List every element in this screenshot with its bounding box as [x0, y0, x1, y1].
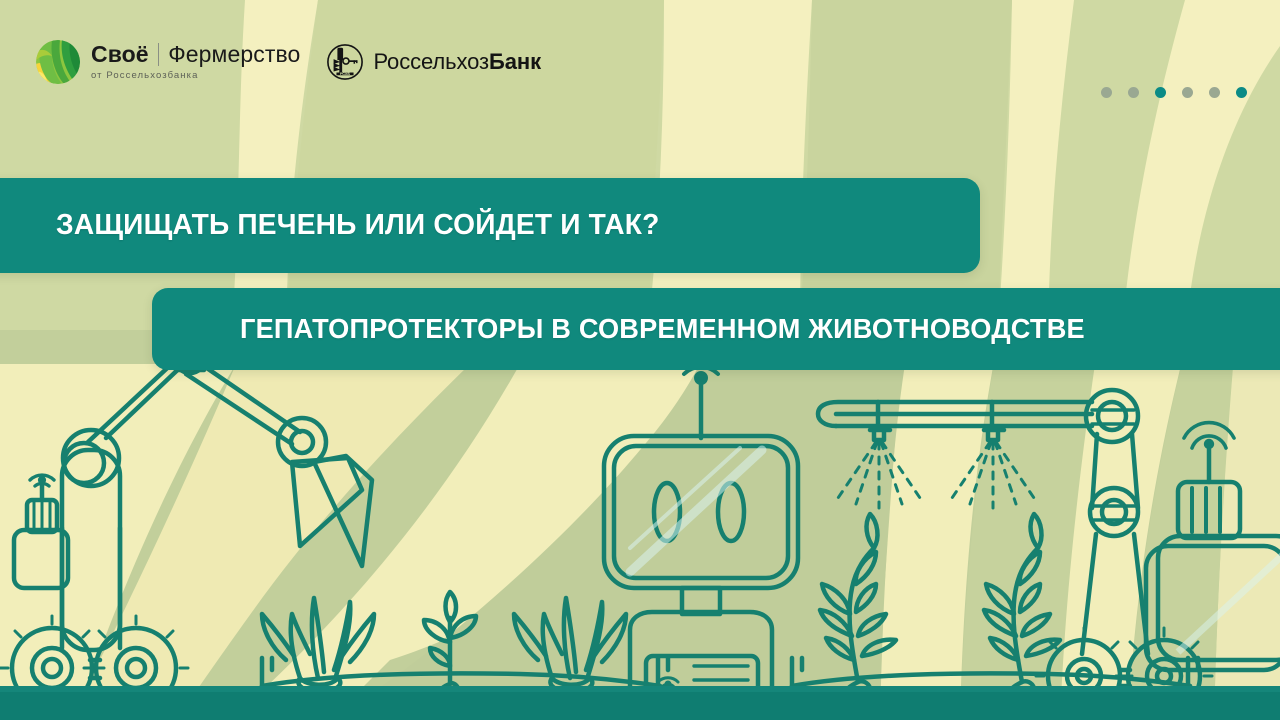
- harvester-vehicle: [1036, 390, 1280, 720]
- title-line-2: ГЕПАТОПРОТЕКТОРЫ В СОВРЕМЕННОМ ЖИВОТНОВО…: [240, 313, 1085, 345]
- svoe-fermerstvo-logo[interactable]: Своё Фермерство от Россельхозбанка: [36, 40, 300, 84]
- pager-dot-6[interactable]: [1236, 87, 1247, 98]
- pager-dot-group-1: [1101, 87, 1166, 98]
- spray-lines-2: [952, 442, 1034, 508]
- smart-farm-illustration: [0, 330, 1280, 720]
- svoe-word: Своё: [91, 43, 149, 66]
- svoe-subtitle: от Россельхозбанка: [91, 71, 300, 81]
- pager-dot-group-2: [1182, 87, 1247, 98]
- wifi-icon-left: [30, 475, 54, 486]
- fermerstvo-word: Фермерство: [168, 43, 300, 66]
- rshb-logo[interactable]: РСХБ РоссельхозБанк: [326, 43, 541, 81]
- slide-canvas: Своё Фермерство от Россельхозбанка: [0, 0, 1280, 720]
- pager-dot-1[interactable]: [1101, 87, 1112, 98]
- spray-lines-1: [838, 442, 920, 508]
- wifi-icon-right: [1184, 423, 1234, 448]
- pager-dot-2[interactable]: [1128, 87, 1139, 98]
- svoe-circle-logo-icon: [36, 40, 80, 84]
- brand-logos: Своё Фермерство от Россельхозбанка: [36, 40, 541, 84]
- vine-plant-1: [820, 514, 896, 696]
- title-bar-primary: ЗАЩИЩАТЬ ПЕЧЕНЬ ИЛИ СОЙДЕТ И ТАК?: [0, 178, 980, 273]
- seedling-center-left: [424, 592, 476, 695]
- title-bar-secondary: ГЕПАТОПРОТЕКТОРЫ В СОВРЕМЕННОМ ЖИВОТНОВО…: [152, 288, 1280, 370]
- robot-display-unit: [604, 351, 798, 706]
- pager-dot-3[interactable]: [1155, 87, 1166, 98]
- ground-strip: [0, 690, 1280, 720]
- irrigation-sprinkler-boom: [818, 402, 1092, 508]
- rshb-wheat-seal-icon: РСХБ: [326, 43, 364, 81]
- title-line-1: ЗАЩИЩАТЬ ПЕЧЕНЬ ИЛИ СОЙДЕТ И ТАК?: [56, 209, 659, 242]
- rshb-name-regular: Россельхоз: [373, 49, 489, 74]
- svg-text:РСХБ: РСХБ: [340, 72, 351, 76]
- logo-divider: [158, 43, 160, 66]
- pager-dots[interactable]: [1101, 87, 1247, 98]
- pager-dot-5[interactable]: [1209, 87, 1220, 98]
- rshb-wordmark: РоссельхозБанк: [373, 49, 541, 75]
- pager-dot-4[interactable]: [1182, 87, 1193, 98]
- rshb-name-bold: Банк: [489, 49, 541, 74]
